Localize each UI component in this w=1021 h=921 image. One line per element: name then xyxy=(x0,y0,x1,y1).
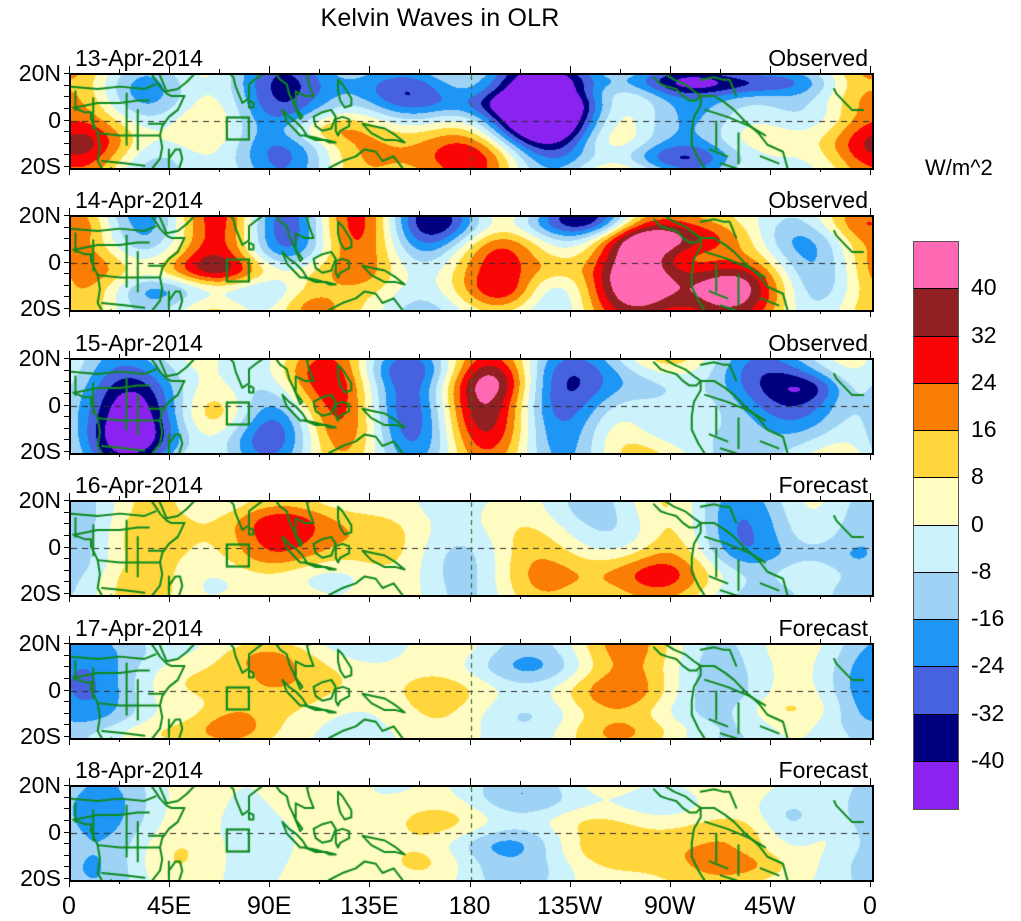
y-tick-label: 20S xyxy=(0,438,61,465)
x-tick-mark xyxy=(720,639,721,643)
x-tick-mark xyxy=(219,639,220,643)
colorbar-band-7[interactable] xyxy=(914,573,958,620)
x-tick-mark xyxy=(470,880,471,887)
x-tick-mark xyxy=(820,453,821,457)
map-canvas xyxy=(71,502,872,595)
x-tick-mark xyxy=(419,168,420,172)
y-tick-label: 20S xyxy=(0,295,61,322)
map-panel-4[interactable] xyxy=(69,500,874,597)
y-tick-mark xyxy=(64,593,70,594)
x-tick-mark xyxy=(570,880,571,887)
x-tick-mark xyxy=(69,595,70,602)
x-tick-mark xyxy=(570,778,571,785)
y-tick-label: 20S xyxy=(0,580,61,607)
x-tick-mark xyxy=(520,453,521,457)
x-tick-mark xyxy=(720,781,721,785)
x-tick-mark xyxy=(319,211,320,215)
x-tick-mark xyxy=(770,310,771,317)
x-tick-mark xyxy=(369,738,370,745)
x-tick-mark xyxy=(820,211,821,215)
panel-kind-label-4: Forecast xyxy=(660,472,868,499)
x-tick-mark xyxy=(520,310,521,314)
x-tick-mark xyxy=(870,738,871,745)
colorbar-tick-label: 16 xyxy=(971,416,997,443)
y-tick-mark xyxy=(64,451,70,452)
colorbar-band-2[interactable] xyxy=(914,337,958,384)
y-tick-mark xyxy=(64,866,70,867)
colorbar-band-11[interactable] xyxy=(914,762,958,809)
x-tick-mark xyxy=(319,639,320,643)
x-tick-mark xyxy=(720,595,721,599)
x-tick-mark xyxy=(470,595,471,602)
x-tick-mark xyxy=(119,69,120,73)
x-tick-mark xyxy=(269,636,270,643)
x-tick-mark xyxy=(820,595,821,599)
x-tick-mark xyxy=(720,453,721,457)
x-tick-mark xyxy=(470,738,471,745)
x-tick-mark xyxy=(620,880,621,884)
map-canvas xyxy=(71,217,872,310)
x-tick-mark xyxy=(870,595,871,602)
x-tick-mark xyxy=(169,453,170,460)
x-tick-mark xyxy=(670,453,671,460)
x-tick-mark xyxy=(419,496,420,500)
y-tick-mark xyxy=(64,736,70,737)
x-tick-mark xyxy=(69,208,70,215)
x-tick-mark xyxy=(720,496,721,500)
x-tick-mark xyxy=(369,595,370,602)
x-tick-mark xyxy=(570,351,571,358)
x-tick-mark xyxy=(369,66,370,73)
x-tick-mark xyxy=(520,781,521,785)
x-tick-mark xyxy=(69,778,70,785)
x-tick-mark xyxy=(319,496,320,500)
x-tick-mark xyxy=(269,453,270,460)
y-tick-label: 20S xyxy=(0,153,61,180)
x-tick-mark xyxy=(369,168,370,175)
y-tick-label: 20S xyxy=(0,723,61,750)
x-tick-mark xyxy=(419,69,420,73)
x-tick-mark xyxy=(520,69,521,73)
panel-date-label-1: 13-Apr-2014 xyxy=(75,45,203,72)
y-tick-mark xyxy=(64,358,70,359)
x-tick-mark xyxy=(269,168,270,175)
x-tick-mark xyxy=(169,738,170,745)
x-tick-mark xyxy=(520,639,521,643)
x-tick-mark xyxy=(570,493,571,500)
panel-date-label-3: 15-Apr-2014 xyxy=(75,330,203,357)
x-tick-mark xyxy=(820,781,821,785)
panel-kind-label-3: Observed xyxy=(660,330,868,357)
x-tick-mark xyxy=(269,351,270,358)
x-tick-mark xyxy=(419,310,420,314)
y-tick-mark xyxy=(64,713,70,714)
y-tick-mark xyxy=(64,655,70,656)
x-tick-mark xyxy=(219,496,220,500)
x-tick-mark xyxy=(119,781,120,785)
x-tick-mark xyxy=(69,168,70,175)
y-tick-mark xyxy=(64,154,70,155)
y-tick-mark xyxy=(64,820,70,821)
x-tick-mark xyxy=(870,66,871,73)
x-tick-mark xyxy=(670,351,671,358)
y-tick-mark xyxy=(64,535,70,536)
y-tick-mark xyxy=(64,120,70,121)
y-tick-mark xyxy=(64,570,70,571)
x-tick-mark xyxy=(119,738,120,742)
x-tick-mark xyxy=(870,168,871,175)
y-tick-mark xyxy=(64,428,70,429)
x-tick-mark xyxy=(570,636,571,643)
x-tick-mark xyxy=(620,310,621,314)
x-tick-mark xyxy=(870,880,871,887)
x-tick-mark xyxy=(520,211,521,215)
x-tick-mark xyxy=(770,778,771,785)
x-tick-mark xyxy=(670,636,671,643)
map-panel-3[interactable] xyxy=(69,358,874,455)
x-tick-mark xyxy=(419,880,420,884)
x-tick-mark xyxy=(470,168,471,175)
x-tick-mark xyxy=(820,310,821,314)
panel-date-label-2: 14-Apr-2014 xyxy=(75,187,203,214)
x-tick-mark xyxy=(169,778,170,785)
x-tick-mark xyxy=(820,496,821,500)
x-tick-mark xyxy=(470,208,471,215)
x-tick-mark xyxy=(820,69,821,73)
colorbar-band-8[interactable] xyxy=(914,620,958,667)
x-tick-mark xyxy=(820,168,821,172)
panel-date-label-4: 16-Apr-2014 xyxy=(75,472,203,499)
colorbar-tick-label: 24 xyxy=(971,369,997,396)
y-tick-mark xyxy=(64,296,70,297)
x-tick-mark xyxy=(620,738,621,742)
x-tick-mark xyxy=(319,738,320,742)
x-tick-mark xyxy=(219,211,220,215)
y-tick-mark xyxy=(64,166,70,167)
x-tick-mark xyxy=(319,453,320,457)
x-tick-mark xyxy=(720,738,721,742)
colorbar-tick-label: -16 xyxy=(971,605,1004,632)
x-tick-mark xyxy=(620,354,621,358)
panel-kind-label-5: Forecast xyxy=(660,615,868,642)
x-tick-mark xyxy=(570,738,571,745)
x-tick-mark xyxy=(670,778,671,785)
x-tick-mark xyxy=(369,208,370,215)
x-tick-mark xyxy=(69,351,70,358)
x-tick-mark xyxy=(269,778,270,785)
x-tick-mark xyxy=(169,351,170,358)
x-tick-mark xyxy=(820,354,821,358)
x-tick-mark xyxy=(219,595,220,599)
y-tick-mark xyxy=(64,785,70,786)
x-tick-mark xyxy=(319,168,320,172)
x-tick-mark xyxy=(219,880,220,884)
y-tick-mark xyxy=(64,678,70,679)
y-tick-mark xyxy=(64,250,70,251)
x-tick-mark xyxy=(119,211,120,215)
x-tick-mark xyxy=(219,354,220,358)
y-tick-mark xyxy=(64,690,70,691)
colorbar-tick-label: -40 xyxy=(971,747,1004,774)
x-tick-mark xyxy=(319,880,320,884)
y-tick-mark xyxy=(64,73,70,74)
y-tick-mark xyxy=(64,308,70,309)
y-tick-mark xyxy=(64,416,70,417)
x-tick-mark xyxy=(820,639,821,643)
x-tick-mark xyxy=(570,595,571,602)
y-tick-mark xyxy=(64,701,70,702)
x-tick-mark xyxy=(319,310,320,314)
y-tick-mark xyxy=(64,797,70,798)
x-tick-mark xyxy=(169,310,170,317)
map-panel-5[interactable] xyxy=(69,643,874,740)
x-tick-mark xyxy=(470,351,471,358)
y-tick-mark xyxy=(64,143,70,144)
panel-kind-label-1: Observed xyxy=(660,45,868,72)
x-tick-mark xyxy=(69,453,70,460)
x-tick-mark xyxy=(319,354,320,358)
colorbar-band-5[interactable] xyxy=(914,478,958,525)
x-tick-mark xyxy=(620,639,621,643)
y-tick-mark xyxy=(64,108,70,109)
colorbar-band-4[interactable] xyxy=(914,431,958,478)
x-tick-mark xyxy=(870,351,871,358)
map-canvas xyxy=(71,75,872,168)
x-tick-mark xyxy=(169,493,170,500)
x-tick-mark xyxy=(670,208,671,215)
x-tick-mark xyxy=(470,310,471,317)
x-tick-mark xyxy=(169,208,170,215)
map-canvas xyxy=(71,360,872,453)
y-tick-mark xyxy=(64,558,70,559)
x-tick-mark xyxy=(219,738,220,742)
map-panel-2[interactable] xyxy=(69,215,874,312)
x-tick-mark xyxy=(169,168,170,175)
x-tick-mark xyxy=(470,778,471,785)
colorbar-tick-label: 32 xyxy=(971,322,997,349)
x-tick-mark xyxy=(69,493,70,500)
x-tick-mark xyxy=(570,168,571,175)
colorbar-band-0[interactable] xyxy=(914,242,958,289)
x-tick-mark xyxy=(870,778,871,785)
x-tick-mark xyxy=(520,595,521,599)
x-tick-mark xyxy=(369,310,370,317)
y-tick-mark xyxy=(64,500,70,501)
colorbar-band-3[interactable] xyxy=(914,384,958,431)
x-tick-mark xyxy=(69,880,70,887)
colorbar-band-6[interactable] xyxy=(914,526,958,573)
x-tick-mark xyxy=(720,211,721,215)
x-tick-mark xyxy=(820,738,821,742)
x-tick-mark xyxy=(419,639,420,643)
colorbar-title: W/m^2 xyxy=(925,155,993,181)
x-tick-mark xyxy=(770,880,771,887)
x-tick-mark xyxy=(419,211,420,215)
colorbar-band-1[interactable] xyxy=(914,289,958,336)
x-tick-mark xyxy=(419,354,420,358)
x-tick-mark xyxy=(770,66,771,73)
x-tick-mark xyxy=(269,880,270,887)
y-tick-mark xyxy=(64,855,70,856)
x-tick-mark xyxy=(470,493,471,500)
x-tick-mark xyxy=(670,168,671,175)
x-tick-mark xyxy=(269,738,270,745)
x-tick-mark xyxy=(69,310,70,317)
colorbar-tick-label: -8 xyxy=(971,558,991,585)
x-tick-mark xyxy=(520,496,521,500)
x-tick-mark xyxy=(870,453,871,460)
x-tick-mark xyxy=(520,354,521,358)
panel-kind-label-2: Observed xyxy=(660,187,868,214)
y-tick-mark xyxy=(64,227,70,228)
panel-date-label-6: 18-Apr-2014 xyxy=(75,757,203,784)
x-tick-mark xyxy=(69,636,70,643)
y-tick-label: 20N xyxy=(0,487,61,514)
x-tick-mark xyxy=(670,66,671,73)
x-tick-mark xyxy=(119,595,120,599)
y-tick-mark xyxy=(64,439,70,440)
map-panel-6[interactable] xyxy=(69,785,874,882)
y-tick-mark xyxy=(64,96,70,97)
y-tick-mark xyxy=(64,724,70,725)
x-tick-mark xyxy=(870,636,871,643)
y-tick-label: 0 xyxy=(0,534,61,561)
x-tick-mark xyxy=(219,453,220,457)
x-tick-mark xyxy=(119,354,120,358)
x-tick-mark xyxy=(770,493,771,500)
x-tick-mark xyxy=(319,69,320,73)
y-tick-mark xyxy=(64,832,70,833)
x-tick-mark xyxy=(870,493,871,500)
x-tick-mark xyxy=(119,453,120,457)
x-tick-mark xyxy=(369,493,370,500)
map-canvas xyxy=(71,645,872,738)
y-tick-mark xyxy=(64,643,70,644)
y-tick-mark xyxy=(64,273,70,274)
x-tick-mark xyxy=(269,208,270,215)
x-tick-mark xyxy=(570,208,571,215)
x-tick-mark xyxy=(720,354,721,358)
x-tick-mark xyxy=(169,66,170,73)
x-tick-mark xyxy=(219,69,220,73)
x-tick-mark xyxy=(119,310,120,314)
x-tick-mark xyxy=(419,738,420,742)
x-tick-mark xyxy=(470,636,471,643)
x-tick-mark xyxy=(319,595,320,599)
y-tick-label: 0 xyxy=(0,819,61,846)
x-tick-mark xyxy=(269,493,270,500)
panel-date-label-5: 17-Apr-2014 xyxy=(75,615,203,642)
x-tick-mark xyxy=(419,595,420,599)
colorbar-tick-label: 0 xyxy=(971,511,984,538)
x-tick-mark xyxy=(119,168,120,172)
x-tick-mark xyxy=(720,880,721,884)
x-tick-mark xyxy=(219,310,220,314)
x-tick-mark xyxy=(69,738,70,745)
page-title: Kelvin Waves in OLR xyxy=(0,4,880,33)
x-tick-mark xyxy=(770,595,771,602)
x-tick-mark xyxy=(820,880,821,884)
x-tick-mark xyxy=(670,880,671,887)
colorbar-band-10[interactable] xyxy=(914,715,958,762)
x-tick-mark xyxy=(720,168,721,172)
colorbar-band-9[interactable] xyxy=(914,667,958,714)
x-tick-mark xyxy=(119,639,120,643)
y-tick-mark xyxy=(64,512,70,513)
y-tick-mark xyxy=(64,843,70,844)
x-tick-mark xyxy=(620,595,621,599)
colorbar-tick-label: 8 xyxy=(971,463,984,490)
x-tick-mark xyxy=(269,310,270,317)
y-tick-mark xyxy=(64,523,70,524)
x-tick-mark xyxy=(770,453,771,460)
x-tick-mark xyxy=(470,453,471,460)
x-tick-mark xyxy=(770,636,771,643)
x-tick-mark xyxy=(770,351,771,358)
x-tick-mark xyxy=(219,781,220,785)
y-tick-label: 20S xyxy=(0,865,61,892)
x-tick-mark xyxy=(219,168,220,172)
colorbar-tick-label: -24 xyxy=(971,652,1004,679)
x-tick-mark xyxy=(119,496,120,500)
x-tick-mark xyxy=(620,69,621,73)
x-tick-mark xyxy=(620,168,621,172)
y-tick-label: 0 xyxy=(0,249,61,276)
x-tick-mark xyxy=(319,781,320,785)
x-tick-mark xyxy=(670,310,671,317)
x-tick-mark xyxy=(169,880,170,887)
y-tick-label: 0 xyxy=(0,392,61,419)
x-tick-mark xyxy=(269,66,270,73)
x-tick-mark xyxy=(620,781,621,785)
y-tick-mark xyxy=(64,381,70,382)
colorbar[interactable] xyxy=(913,241,959,810)
x-tick-mark xyxy=(369,778,370,785)
y-tick-mark xyxy=(64,393,70,394)
y-tick-mark xyxy=(64,262,70,263)
y-tick-mark xyxy=(64,878,70,879)
y-tick-mark xyxy=(64,215,70,216)
x-tick-mark xyxy=(570,310,571,317)
x-tick-mark xyxy=(870,208,871,215)
x-tick-mark xyxy=(670,738,671,745)
x-tick-mark xyxy=(770,208,771,215)
x-tick-mark xyxy=(720,310,721,314)
x-tick-mark xyxy=(419,781,420,785)
x-tick-mark xyxy=(620,211,621,215)
x-tick-mark xyxy=(570,453,571,460)
y-tick-mark xyxy=(64,666,70,667)
map-panel-1[interactable] xyxy=(69,73,874,170)
x-tick-mark xyxy=(770,738,771,745)
y-tick-label: 0 xyxy=(0,107,61,134)
x-tick-mark xyxy=(419,453,420,457)
panel-kind-label-6: Forecast xyxy=(660,757,868,784)
x-tick-mark xyxy=(369,636,370,643)
x-tick-mark xyxy=(369,880,370,887)
x-tick-mark xyxy=(770,168,771,175)
y-tick-mark xyxy=(64,547,70,548)
y-tick-mark xyxy=(64,131,70,132)
y-tick-mark xyxy=(64,581,70,582)
map-canvas xyxy=(71,787,872,880)
x-tick-mark xyxy=(670,595,671,602)
x-tick-mark xyxy=(520,880,521,884)
y-tick-mark xyxy=(64,85,70,86)
y-tick-label: 0 xyxy=(0,677,61,704)
y-tick-label: 20N xyxy=(0,60,61,87)
x-tick-mark xyxy=(369,351,370,358)
